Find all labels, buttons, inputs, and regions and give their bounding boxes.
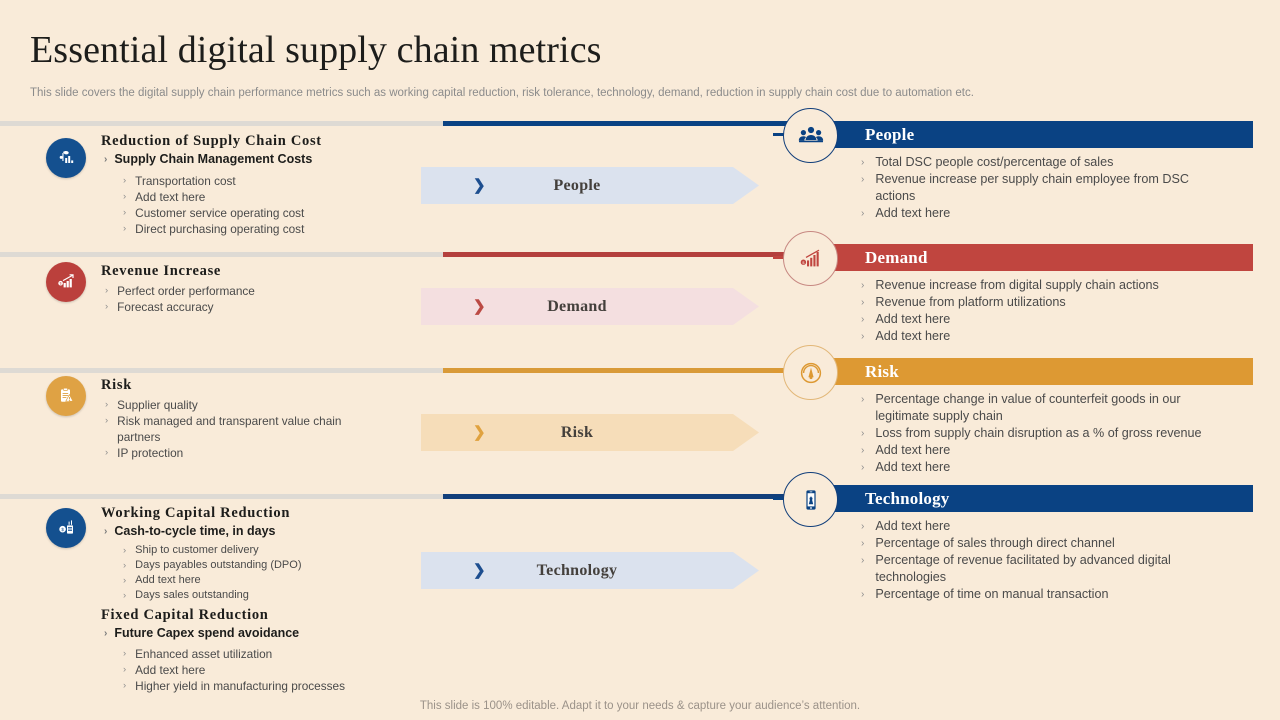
list-item-label: Add text here [875,205,950,222]
list-item-label: Risk managed and transparent value chain… [117,413,355,445]
slide-canvas: Essential digital supply chain metrics T… [0,0,1280,720]
list-item: ›Revenue increase from digital supply ch… [861,277,1249,294]
list-item-label: Perfect order performance [117,283,255,299]
list-item: ›Revenue increase per supply chain emplo… [861,171,1206,205]
arrow-banner-risk[interactable]: ❯ Risk [421,414,759,451]
left-section-2-title: Revenue Increase [101,262,420,280]
list-item: ›Add text here [861,205,1249,222]
chevron-icon: › [123,543,126,558]
chevron-icon: › [123,173,126,189]
left-section-4-subhead: › Cash-to-cycle time, in days [101,523,420,540]
list-item-label: Customer service operating cost [135,205,304,221]
list-item-label: Supplier quality [117,397,198,413]
chevron-icon: › [861,552,864,586]
divider-rule-3 [0,368,800,373]
right-section-people-bar: People [790,121,1253,148]
list-item-label: Revenue increase per supply chain employ… [875,171,1206,205]
chevron-icon: › [105,299,108,315]
list-item: ›Transportation cost [123,173,420,189]
chevron-icon: › [123,646,126,662]
list-item-label: Forecast accuracy [117,299,213,315]
list-item-label: Days payables outstanding (DPO) [135,558,301,573]
list-item: ›Higher yield in manufacturing processes [123,678,420,694]
rule-accent-1 [443,121,793,126]
chevron-icon: › [105,283,108,299]
chevron-icon: › [861,459,864,476]
svg-text:$: $ [60,282,62,286]
chevron-icon: › [861,391,864,425]
chevron-icon: › [861,328,864,345]
chevron-icon: › [104,523,107,540]
chevron-icon: › [861,294,864,311]
list-item-label: IP protection [117,445,183,461]
chevron-icon: › [123,189,126,205]
chevron-icon: › [861,154,864,171]
left-section-3-title: Risk [101,376,420,394]
list-item-label: Percentage of sales through direct chann… [875,535,1114,552]
people-group-icon [783,108,838,163]
rule-accent-4 [443,494,793,499]
left-section-4-title: Working Capital Reduction [101,504,420,522]
list-item: ›Customer service operating cost [123,205,420,221]
list-item: ›Total DSC people cost/percentage of sal… [861,154,1249,171]
list-item: ›Add text here [123,573,420,588]
chevron-icon: › [861,518,864,535]
list-item-label: Add text here [875,442,950,459]
right-section-demand-bar: Demand [790,244,1253,271]
chevron-icon: › [861,171,864,205]
chevron-icon: › [861,311,864,328]
list-item-label: Enhanced asset utilization [135,646,272,662]
chevron-icon: › [123,678,126,694]
chevron-icon: › [123,588,126,603]
left-section-4-body: Working Capital Reduction › Cash-to-cycl… [101,504,420,694]
left-section-1-list: ›Transportation cost ›Add text here ›Cus… [101,173,420,237]
list-item: ›Percentage of revenue facilitated by ad… [861,552,1221,586]
list-item-label: Add text here [875,459,950,476]
right-section-people-list: ›Total DSC people cost/percentage of sal… [861,154,1249,222]
list-item: ›Add text here [861,518,1249,535]
list-item: ›Revenue from platform utilizations [861,294,1249,311]
left-section-1-subhead-label: Supply Chain Management Costs [114,151,312,168]
left-section-3-body: Risk ›Supplier quality ›Risk managed and… [101,376,420,461]
divider-rule-4 [0,494,800,499]
chevron-icon: › [104,625,107,642]
svg-text:$: $ [61,527,64,532]
chevron-icon: › [861,586,864,603]
chevron-icon: › [104,151,107,168]
left-section-4-subhead-label: Cash-to-cycle time, in days [114,523,275,540]
right-section-risk-title: Risk [865,362,899,382]
list-item-label: Percentage of revenue facilitated by adv… [875,552,1221,586]
right-section-demand-title: Demand [865,248,928,268]
working-capital-icon: $ [46,508,86,548]
list-item: ›Add text here [123,189,420,205]
chevron-icon: › [105,413,108,445]
left-section-4-title-2: Fixed Capital Reduction [101,606,420,624]
list-item: ›Days payables outstanding (DPO) [123,558,420,573]
right-section-demand-list: ›Revenue increase from digital supply ch… [861,277,1249,345]
list-item-label: Add text here [875,518,950,535]
list-item: ›Loss from supply chain disruption as a … [861,425,1249,442]
list-item: ›Forecast accuracy [105,299,420,315]
list-item: ›Percentage change in value of counterfe… [861,391,1233,425]
list-item-label: Loss from supply chain disruption as a %… [875,425,1201,442]
page-title: Essential digital supply chain metrics [30,27,602,73]
list-item: ›Ship to customer delivery [123,543,420,558]
footer-note: This slide is 100% editable. Adapt it to… [0,700,1280,712]
chevron-icon: › [123,662,126,678]
chevron-icon: › [105,397,108,413]
list-item: ›Add text here [861,328,1249,345]
chevron-icon: › [123,573,126,588]
page-subtitle: This slide covers the digital supply cha… [30,86,974,101]
left-section-4-list-2: ›Enhanced asset utilization ›Add text he… [101,646,420,694]
list-item-label: Add text here [135,573,200,588]
right-section-people-title: People [865,125,914,145]
risk-gauge-icon [783,345,838,400]
divider-rule-2 [0,252,800,257]
list-item-label: Ship to customer delivery [135,543,259,558]
right-section-technology-list: ›Add text here ›Percentage of sales thro… [861,518,1249,603]
rule-accent-2 [443,252,793,257]
list-item-label: Add text here [875,311,950,328]
list-item-label: Higher yield in manufacturing processes [135,678,345,694]
list-item-label: Transportation cost [135,173,236,189]
divider-rule-1 [0,121,800,126]
list-item: ›Add text here [861,311,1249,328]
list-item: ›IP protection [105,445,420,461]
arrow-banner-demand[interactable]: ❯ Demand [421,288,759,325]
chevron-icon: › [861,442,864,459]
list-item-label: Add text here [135,662,205,678]
left-section-1-body: Reduction of Supply Chain Cost › Supply … [101,132,420,237]
chevron-icon: › [861,205,864,222]
left-section-1-title: Reduction of Supply Chain Cost [101,132,420,150]
list-item-label: Percentage change in value of counterfei… [875,391,1233,425]
right-section-risk-bar: Risk [790,358,1253,385]
list-item-label: Days sales outstanding [135,588,249,603]
right-section-technology-title: Technology [865,489,950,509]
list-item: ›Percentage of time on manual transactio… [861,586,1249,603]
left-section-4-subhead-2: › Future Capex spend avoidance [101,625,420,642]
list-item: ›Add text here [861,459,1249,476]
mobile-device-icon [783,472,838,527]
list-item-label: Revenue from platform utilizations [875,294,1065,311]
arrow-banner-people[interactable]: ❯ People [421,167,759,204]
chevron-icon: › [123,558,126,573]
arrow-banner-people-label: People [421,177,733,195]
list-item-label: Total DSC people cost/percentage of sale… [875,154,1113,171]
chevron-icon: › [861,277,864,294]
list-item: ›Percentage of sales through direct chan… [861,535,1249,552]
list-item-label: Revenue increase from digital supply cha… [875,277,1159,294]
rule-accent-3 [443,368,793,373]
list-item-label: Direct purchasing operating cost [135,221,304,237]
risk-clipboard-icon [46,376,86,416]
arrow-banner-technology-label: Technology [421,562,733,580]
chevron-icon: › [861,535,864,552]
chevron-icon: › [105,445,108,461]
arrow-banner-demand-label: Demand [421,298,733,316]
chevron-icon: › [123,221,126,237]
list-item-label: Percentage of time on manual transaction [875,586,1108,603]
list-item: ›Supplier quality [105,397,420,413]
left-section-4-subhead-2-label: Future Capex spend avoidance [114,625,299,642]
list-item-label: Add text here [135,189,205,205]
chevron-icon: › [861,425,864,442]
list-item: ›Direct purchasing operating cost [123,221,420,237]
arrow-banner-risk-label: Risk [421,424,733,442]
list-item-label: Add text here [875,328,950,345]
arrow-banner-technology[interactable]: ❯ Technology [421,552,759,589]
list-item: ›Perfect order performance [105,283,420,299]
revenue-chart-icon: $ [46,262,86,302]
list-item: ›Add text here [861,442,1249,459]
left-section-4-list: ›Ship to customer delivery ›Days payable… [101,543,420,603]
left-section-1-subhead: › Supply Chain Management Costs [101,151,420,168]
demand-bar-chart-icon: $ [783,231,838,286]
right-section-risk-list: ›Percentage change in value of counterfe… [861,391,1249,476]
list-item: ›Add text here [123,662,420,678]
left-section-2-list: ›Perfect order performance ›Forecast acc… [101,283,420,315]
list-item: ›Days sales outstanding [123,588,420,603]
chevron-icon: › [123,205,126,221]
right-section-technology-bar: Technology [790,485,1253,512]
left-section-2-body: Revenue Increase ›Perfect order performa… [101,262,420,315]
left-section-3-list: ›Supplier quality ›Risk managed and tran… [101,397,420,461]
supply-chain-cost-icon [46,138,86,178]
list-item: ›Enhanced asset utilization [123,646,420,662]
list-item: ›Risk managed and transparent value chai… [105,413,355,445]
